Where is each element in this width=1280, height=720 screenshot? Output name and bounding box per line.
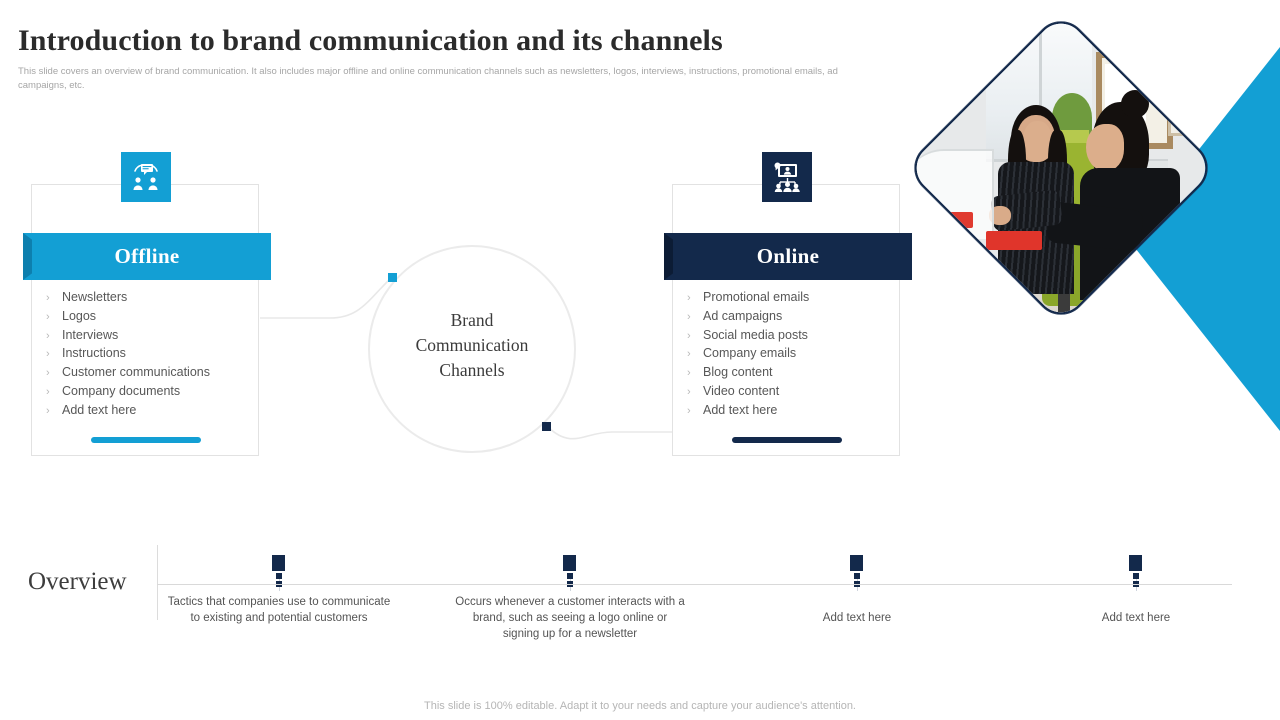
list-item[interactable]: ›Newsletters — [46, 289, 210, 308]
list-item-label: Add text here — [703, 402, 777, 420]
timeline-item-text: Add text here — [1021, 610, 1251, 626]
chevron-right-icon: › — [46, 384, 62, 402]
chevron-right-icon: › — [46, 403, 62, 421]
list-item-label: Blog content — [703, 364, 773, 382]
card-online[interactable]: Online ›Promotional emails ›Ad campaigns… — [672, 184, 900, 456]
list-item-label: Interviews — [62, 327, 118, 345]
card-offline-title: Offline — [114, 244, 179, 269]
timeline-item-text: Add text here — [742, 610, 972, 626]
timeline-marker-large — [1129, 555, 1142, 571]
decorative-graphic — [940, 35, 1280, 435]
online-channel-list: ›Promotional emails ›Ad campaigns ›Socia… — [687, 289, 809, 421]
connector-node-right — [542, 422, 551, 431]
list-item-label: Customer communications — [62, 364, 210, 382]
timeline-axis — [157, 584, 1232, 585]
group-chat-icon — [121, 152, 171, 202]
center-circle-label: Brand Communication Channels — [368, 308, 576, 383]
chevron-right-icon: › — [46, 309, 62, 327]
center-line-1: Brand — [368, 308, 576, 333]
page-subtitle: This slide covers an overview of brand c… — [18, 65, 846, 93]
timeline-marker-large — [563, 555, 576, 571]
list-item[interactable]: ›Customer communications — [46, 364, 210, 383]
list-item[interactable]: ›Video content — [687, 383, 809, 402]
center-line-2: Communication — [368, 333, 576, 358]
card-online-title: Online — [757, 244, 819, 269]
list-item-label: Ad campaigns — [703, 308, 782, 326]
list-item[interactable]: ›Instructions — [46, 345, 210, 364]
timeline-marker-large — [850, 555, 863, 571]
list-item[interactable]: ›Logos — [46, 308, 210, 327]
list-item[interactable]: ›Add text here — [46, 402, 210, 421]
offline-channel-list: ›Newsletters ›Logos ›Interviews ›Instruc… — [46, 289, 210, 421]
overview-label: Overview — [28, 568, 127, 596]
list-item[interactable]: ›Promotional emails — [687, 289, 809, 308]
list-item-label: Promotional emails — [703, 289, 809, 307]
list-item-label: Company emails — [703, 345, 796, 363]
center-circle: Brand Communication Channels — [368, 272, 576, 426]
chevron-right-icon: › — [687, 365, 703, 383]
chevron-right-icon: › — [687, 403, 703, 421]
card-offline-banner: Offline — [23, 233, 271, 280]
card-offline[interactable]: Offline ›Newsletters ›Logos ›Interviews … — [31, 184, 259, 456]
chevron-right-icon: › — [46, 346, 62, 364]
footer-note: This slide is 100% editable. Adapt it to… — [0, 700, 1280, 712]
list-item[interactable]: ›Company emails — [687, 345, 809, 364]
list-item-label: Newsletters — [62, 289, 127, 307]
list-item-label: Social media posts — [703, 327, 808, 345]
card-online-banner: Online — [664, 233, 912, 280]
list-item[interactable]: ›Ad campaigns — [687, 308, 809, 327]
center-line-3: Channels — [368, 358, 576, 383]
card-online-underline — [732, 437, 842, 443]
chevron-right-icon: › — [687, 384, 703, 402]
list-item-label: Add text here — [62, 402, 136, 420]
list-item[interactable]: ›Company documents — [46, 383, 210, 402]
chevron-right-icon: › — [46, 328, 62, 346]
timeline-marker-large — [272, 555, 285, 571]
list-item[interactable]: ›Add text here — [687, 402, 809, 421]
list-item-label: Company documents — [62, 383, 180, 401]
chevron-right-icon: › — [687, 309, 703, 327]
list-item[interactable]: ›Blog content — [687, 364, 809, 383]
overview-divider — [157, 545, 158, 620]
timeline-item-text: Occurs whenever a customer interacts wit… — [455, 594, 685, 642]
webinar-presentation-icon — [762, 152, 812, 202]
card-offline-underline — [91, 437, 201, 443]
chevron-right-icon: › — [687, 328, 703, 346]
chevron-right-icon: › — [46, 290, 62, 308]
overview-section: Overview Tactics that companies use to c… — [0, 540, 1280, 650]
connector-node-left — [388, 273, 397, 282]
page-title: Introduction to brand communication and … — [18, 24, 868, 57]
timeline-item-text: Tactics that companies use to communicat… — [164, 594, 394, 626]
chevron-right-icon: › — [687, 346, 703, 364]
list-item-label: Video content — [703, 383, 779, 401]
list-item[interactable]: ›Social media posts — [687, 327, 809, 346]
list-item[interactable]: ›Interviews — [46, 327, 210, 346]
chevron-right-icon: › — [46, 365, 62, 383]
list-item-label: Logos — [62, 308, 96, 326]
title-block: Introduction to brand communication and … — [18, 24, 868, 93]
chevron-right-icon: › — [687, 290, 703, 308]
list-item-label: Instructions — [62, 345, 126, 363]
